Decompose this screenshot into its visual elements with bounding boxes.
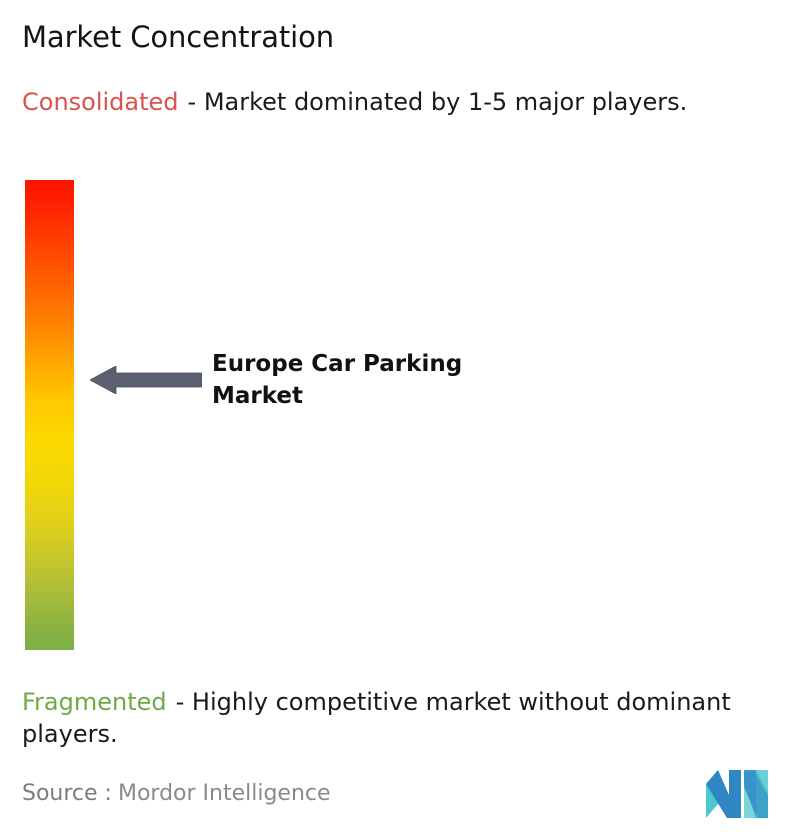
consolidated-description: Consolidated- Market dominated by 1-5 ma… bbox=[22, 86, 762, 118]
market-callout-label: Europe Car Parking Market bbox=[212, 348, 542, 412]
page-title: Market Concentration bbox=[22, 20, 334, 54]
mordor-intelligence-logo-icon bbox=[706, 770, 768, 818]
consolidated-keyword: Consolidated bbox=[22, 88, 179, 116]
fragmented-description: Fragmented- Highly competitive market wi… bbox=[22, 686, 784, 750]
source-name: Mordor Intelligence bbox=[112, 781, 331, 806]
left-arrow-icon bbox=[90, 366, 202, 394]
source-label: Source : bbox=[22, 781, 112, 806]
market-concentration-gradient-bar bbox=[25, 180, 74, 650]
fragmented-keyword: Fragmented bbox=[22, 688, 167, 716]
consolidated-description-text: - Market dominated by 1-5 major players. bbox=[188, 88, 688, 116]
chart-canvas: Market Concentration Consolidated- Marke… bbox=[0, 0, 796, 834]
source-line: Source :Mordor Intelligence bbox=[22, 780, 331, 808]
